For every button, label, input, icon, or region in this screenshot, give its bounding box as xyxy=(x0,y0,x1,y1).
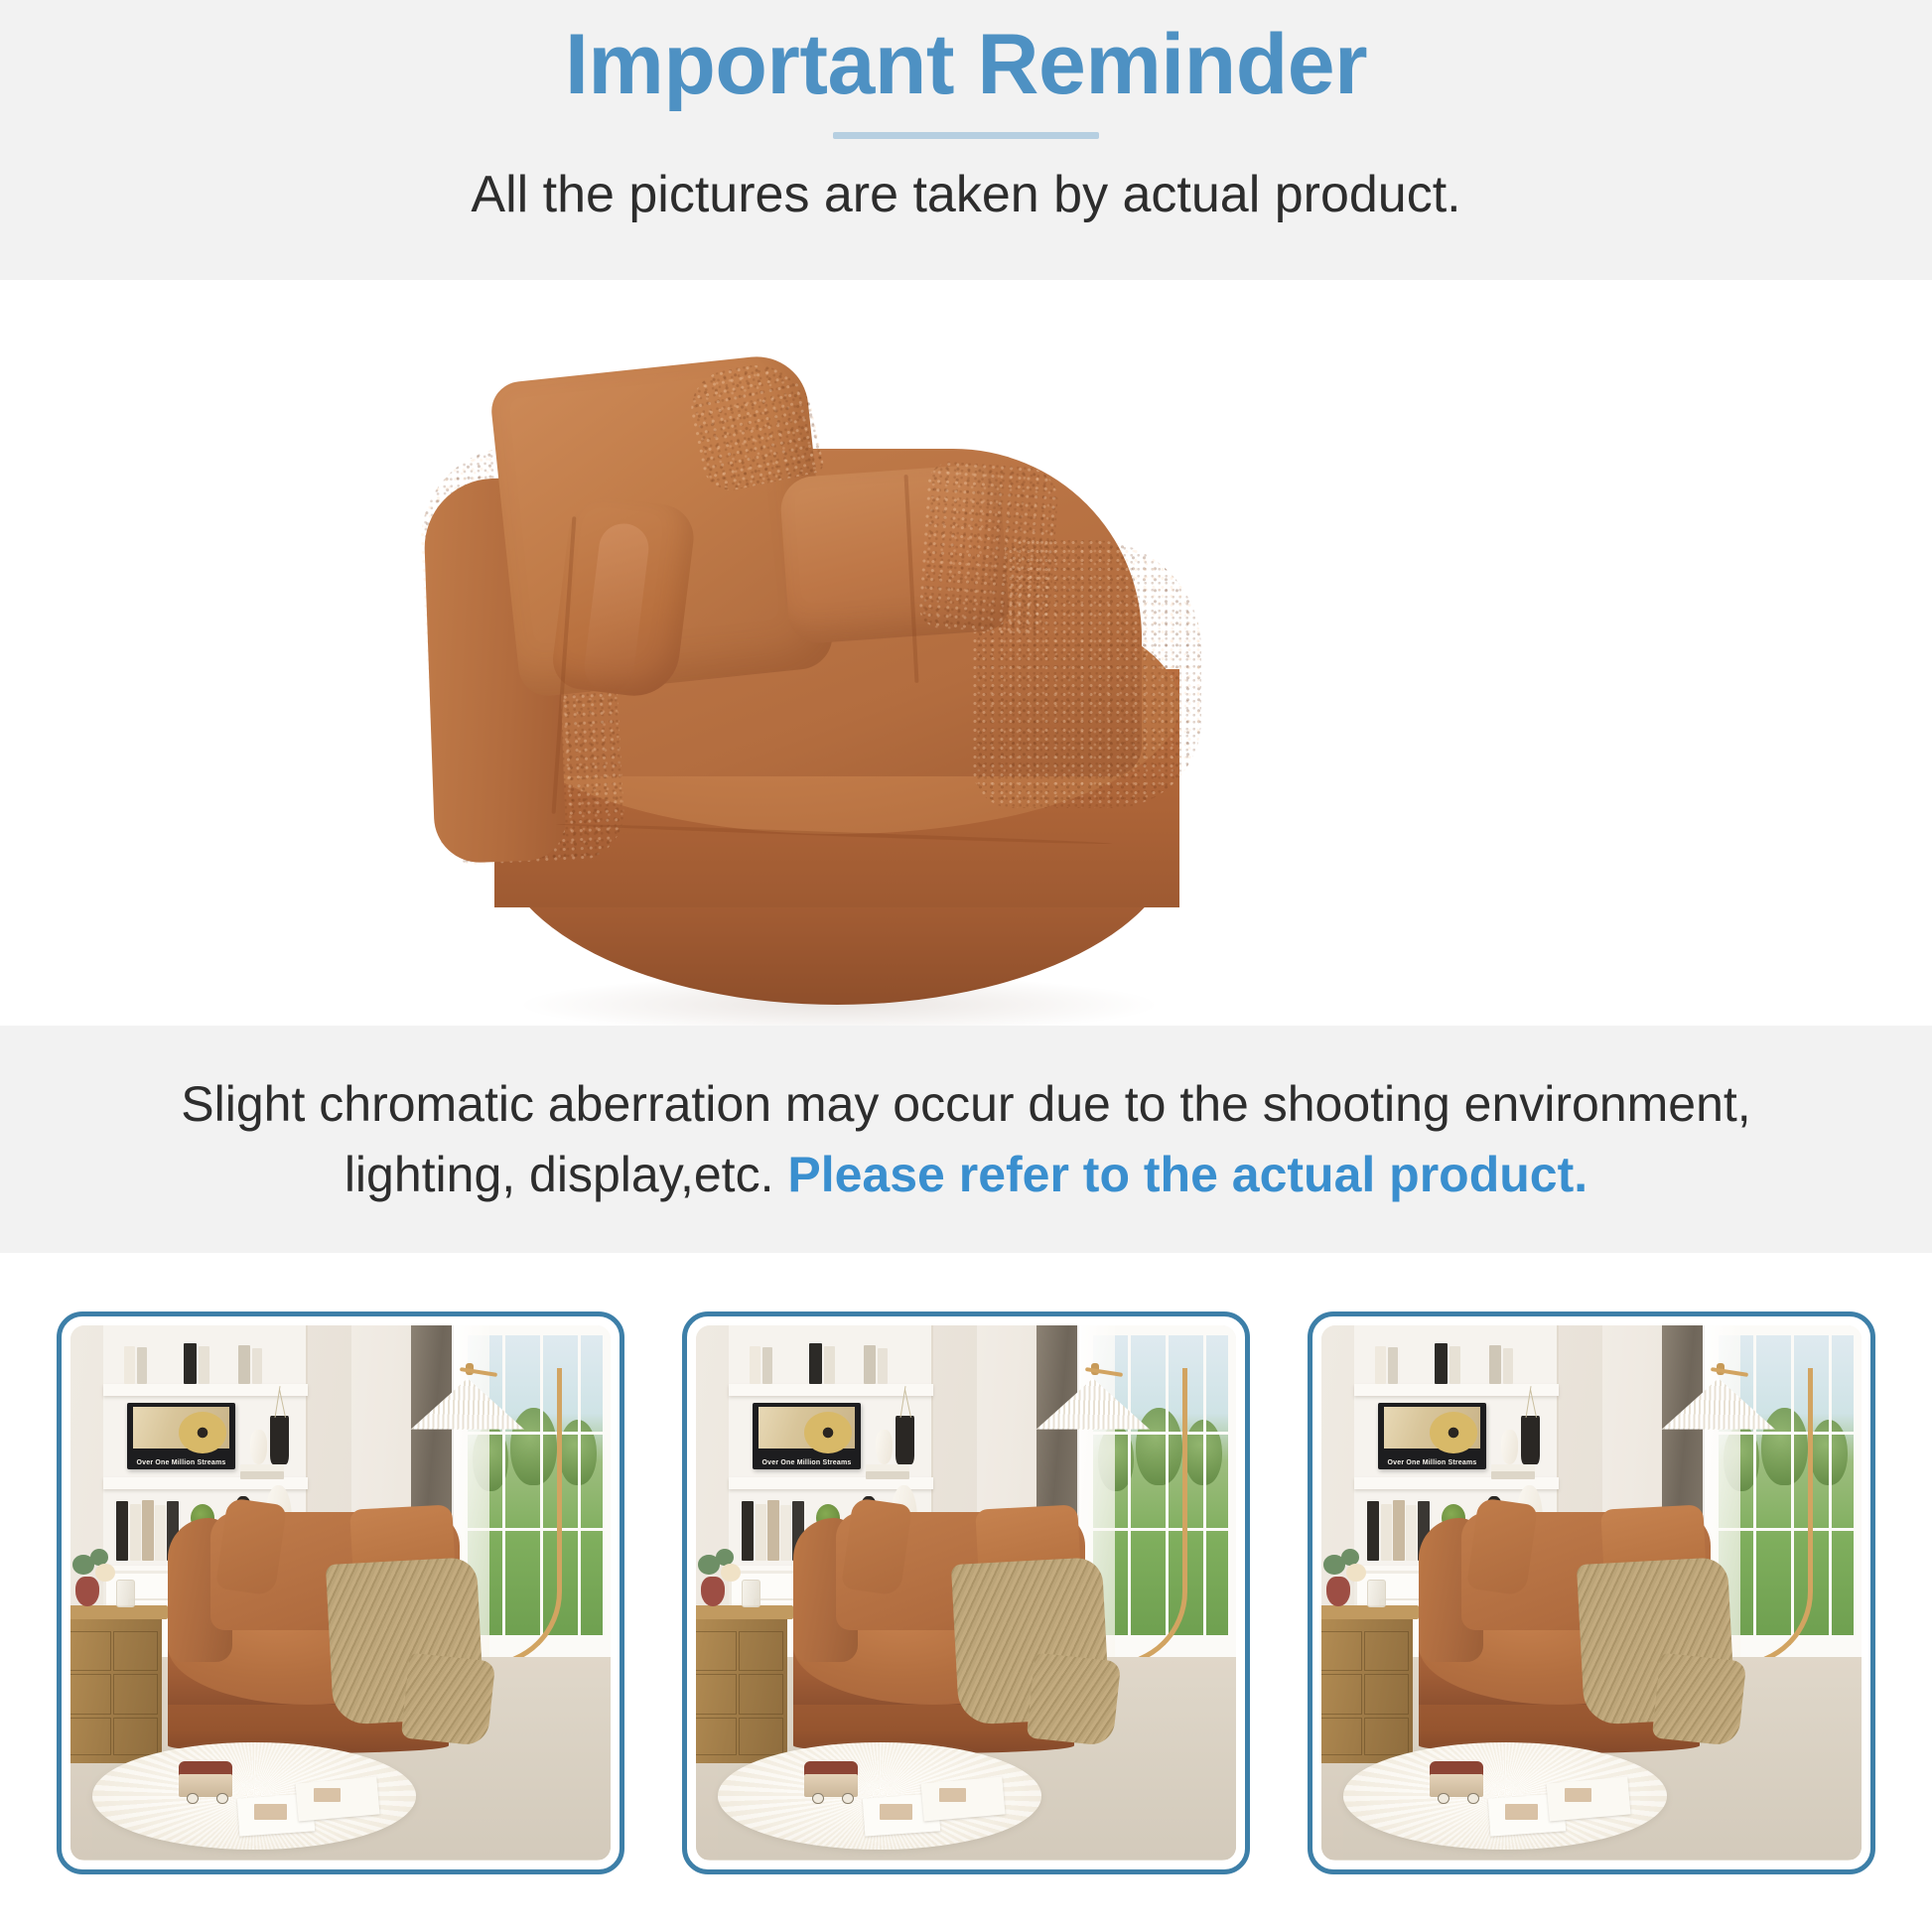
page-title: Important Reminder xyxy=(565,16,1367,114)
flower-bud xyxy=(95,1564,115,1582)
room-scene: Over One Million Streams xyxy=(696,1325,1236,1861)
dark-glass-vase xyxy=(896,1416,913,1464)
glass-jar xyxy=(1367,1580,1387,1607)
cabinet-panel xyxy=(113,1631,158,1672)
thumbnail-2[interactable]: Over One Million Streams xyxy=(682,1311,1250,1874)
toy-wheel xyxy=(216,1793,228,1805)
gold-record-icon xyxy=(1430,1412,1477,1453)
cabinet-panel xyxy=(739,1631,783,1672)
book xyxy=(864,1345,876,1384)
cabinet-top xyxy=(70,1605,168,1619)
thumbnail-row: Over One Million Streams xyxy=(0,1253,1932,1932)
cabinet-panel xyxy=(739,1718,783,1755)
cabinet-panel xyxy=(1321,1631,1362,1672)
book xyxy=(142,1500,154,1560)
book xyxy=(1435,1343,1448,1383)
cabinet-panel xyxy=(1364,1674,1409,1715)
book-illustration xyxy=(939,1788,966,1802)
book-illustration xyxy=(1505,1804,1538,1820)
poster-frame: Over One Million Streams xyxy=(1378,1403,1486,1469)
blanket-fringe xyxy=(1010,1721,1118,1742)
book xyxy=(238,1345,250,1384)
poster-frame: Over One Million Streams xyxy=(127,1403,235,1469)
product-detail-page: Important Reminder All the pictures are … xyxy=(0,0,1932,1932)
hero-stage xyxy=(0,280,1932,1026)
poster-caption: Over One Million Streams xyxy=(753,1459,861,1466)
wood-side-cabinet xyxy=(70,1619,162,1764)
dark-glass-vase xyxy=(270,1416,288,1464)
cabinet-panel xyxy=(1321,1674,1362,1715)
book-illustration xyxy=(1565,1788,1591,1802)
cabinet-panel xyxy=(1321,1718,1362,1755)
lamp-curved-pole xyxy=(486,1368,562,1668)
book-illustration xyxy=(314,1788,341,1802)
cabinet-top xyxy=(1321,1605,1419,1619)
toy-wheel xyxy=(842,1793,854,1805)
book xyxy=(1367,1501,1379,1560)
book xyxy=(1406,1505,1417,1561)
wood-side-cabinet xyxy=(696,1619,787,1764)
book xyxy=(1449,1346,1460,1384)
flower-bud xyxy=(1346,1564,1366,1582)
lamp-curved-pole xyxy=(1112,1368,1187,1668)
cabinet-panel xyxy=(70,1674,111,1715)
title-divider xyxy=(833,132,1099,139)
cabinet-panel xyxy=(1364,1631,1409,1672)
header-band: Important Reminder All the pictures are … xyxy=(0,0,1932,280)
book-illustration xyxy=(254,1804,287,1820)
white-vase xyxy=(876,1430,893,1464)
book xyxy=(1388,1347,1398,1384)
toy-wheel xyxy=(1467,1793,1479,1805)
white-vase xyxy=(1501,1430,1518,1464)
book xyxy=(878,1348,888,1384)
lamp-curved-pole xyxy=(1737,1368,1813,1668)
poster-caption: Over One Million Streams xyxy=(127,1459,235,1466)
cabinet-panel xyxy=(696,1631,737,1672)
book xyxy=(780,1505,791,1561)
cabinet-top xyxy=(696,1605,793,1619)
book xyxy=(809,1343,822,1383)
thumbnail-3[interactable]: Over One Million Streams xyxy=(1308,1311,1875,1874)
hero-product-image xyxy=(0,280,1932,1026)
room-scene: Over One Million Streams xyxy=(1321,1325,1862,1861)
disclaimer-line-2: lighting, display,etc. Please refer to t… xyxy=(345,1140,1587,1210)
book xyxy=(1503,1348,1513,1384)
cabinet-panel xyxy=(739,1674,783,1715)
book xyxy=(184,1343,197,1383)
book xyxy=(756,1504,766,1561)
book xyxy=(762,1347,772,1384)
gold-record-icon xyxy=(179,1412,226,1453)
book xyxy=(124,1346,135,1384)
window-mullion xyxy=(1203,1335,1206,1635)
dark-glass-vase xyxy=(1521,1416,1539,1464)
cabinet-panel xyxy=(113,1718,158,1755)
cabinet-panel xyxy=(70,1631,111,1672)
book xyxy=(742,1501,754,1560)
book xyxy=(750,1346,760,1384)
white-vase xyxy=(250,1430,267,1464)
flower-bud xyxy=(721,1564,741,1582)
thumbnail-1[interactable]: Over One Million Streams xyxy=(57,1311,624,1874)
glass-jar xyxy=(116,1580,136,1607)
book-illustration xyxy=(880,1804,912,1820)
disclaimer-accent-text: Please refer to the actual product. xyxy=(787,1147,1587,1202)
book xyxy=(767,1500,779,1560)
book xyxy=(199,1346,209,1384)
poster-frame: Over One Million Streams xyxy=(753,1403,861,1469)
book xyxy=(137,1347,147,1384)
blanket-fringe xyxy=(1635,1721,1743,1742)
book xyxy=(824,1346,835,1384)
book xyxy=(155,1505,166,1561)
glass-jar xyxy=(742,1580,761,1607)
gold-record-icon xyxy=(804,1412,852,1453)
cabinet-panel xyxy=(696,1718,737,1755)
book xyxy=(1381,1504,1392,1561)
right-bolster-cushion-end xyxy=(917,461,1059,636)
window-mullion xyxy=(1829,1335,1832,1635)
book xyxy=(1489,1345,1501,1384)
book xyxy=(252,1348,262,1384)
header-subtitle: All the pictures are taken by actual pro… xyxy=(471,165,1460,224)
poster-caption: Over One Million Streams xyxy=(1378,1459,1486,1466)
disclaimer-line-2-plain: lighting, display,etc. xyxy=(345,1147,788,1202)
wood-side-cabinet xyxy=(1321,1619,1413,1764)
book xyxy=(130,1504,141,1561)
room-scene: Over One Million Streams xyxy=(70,1325,611,1861)
disclaimer-line-1: Slight chromatic aberration may occur du… xyxy=(181,1069,1750,1140)
cabinet-panel xyxy=(70,1718,111,1755)
book xyxy=(116,1501,128,1560)
cabinet-panel xyxy=(113,1674,158,1715)
cabinet-panel xyxy=(1364,1718,1409,1755)
disclaimer-band: Slight chromatic aberration may occur du… xyxy=(0,1026,1932,1253)
book xyxy=(1393,1500,1405,1560)
blanket-fringe xyxy=(384,1721,492,1742)
window-mullion xyxy=(578,1335,581,1635)
book xyxy=(1375,1346,1386,1384)
cabinet-panel xyxy=(696,1674,737,1715)
